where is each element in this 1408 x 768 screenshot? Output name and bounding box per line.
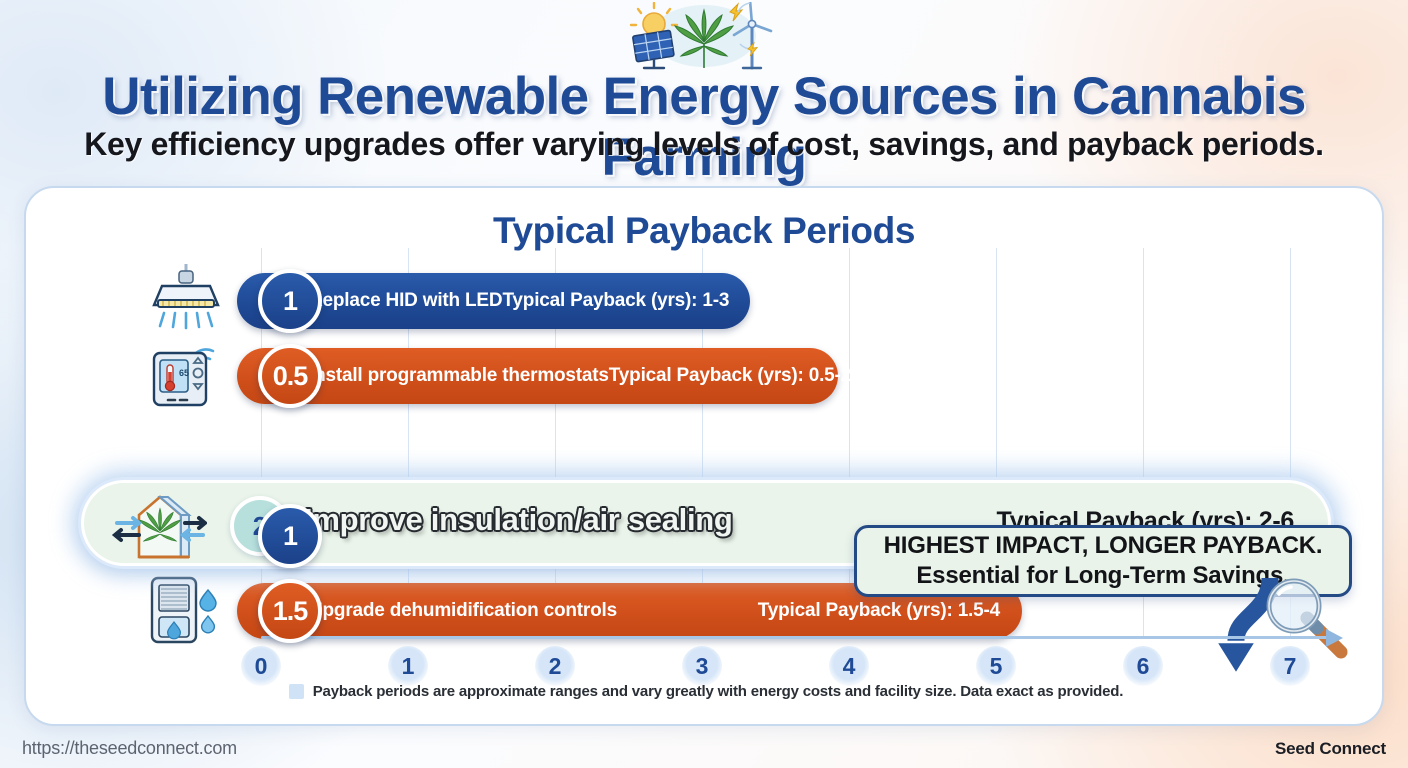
bar-value: Typical Payback (yrs): 1.5-4 [758,600,1000,622]
row-badge: 0.5 [258,344,322,408]
bar-label: Upgrade dehumidification controls [309,600,617,622]
footer-brand: Seed Connect [1275,739,1386,759]
row-badge: 1 [258,504,322,568]
chart-row[interactable]: Replace HID with LED Typical Payback (yr… [26,273,1384,329]
bar-label: Improve insulation/air sealing [304,502,733,538]
chart-row[interactable]: 65 Install programmable thermostats Typi… [26,348,1384,404]
axis-tick-6: 6 [1123,646,1163,686]
callout-line-1: HIGHEST IMPACT, LONGER PAYBACK. [884,531,1323,561]
bar-segment[interactable]: Install programmable thermostats Typical… [237,348,838,404]
axis-tick-7: 7 [1270,646,1310,686]
axis-tick-0: 0 [241,646,281,686]
row-badge: 1 [258,269,322,333]
bar-label: Replace HID with LED [309,290,502,312]
chart-title: Typical Payback Periods [26,210,1382,252]
axis-tick-5: 5 [976,646,1016,686]
footer-url[interactable]: https://theseedconnect.com [22,738,237,759]
footnote-swatch-icon [289,684,304,699]
bar-value: Typical Payback (yrs): 0.5-2 [609,365,851,387]
svg-text:65: 65 [179,368,189,378]
axis-tick-1: 1 [388,646,428,686]
axis-tick-2: 2 [535,646,575,686]
bar-value: Typical Payback (yrs): 1-3 [502,290,729,312]
page-header: Utilizing Renewable Energy Sources in Ca… [0,0,1408,180]
axis-tick-4: 4 [829,646,869,686]
chart-card: Typical Payback Periods [24,186,1384,726]
dehumidifier-icon [138,574,234,648]
x-axis-arrow-icon [1326,629,1343,647]
greenhouse-insulation-icon [109,487,207,565]
magnifying-glass-icon [1259,578,1355,664]
bar-label: Install programmable thermostats [309,365,609,387]
row-badge: 1.5 [258,579,322,643]
smart-thermostat-icon: 65 [138,339,234,413]
hero-icon-cluster [624,2,784,74]
led-grow-light-icon [138,264,234,338]
axis-tick-3: 3 [682,646,722,686]
chart-plot-area: Replace HID with LED Typical Payback (yr… [26,248,1384,668]
page-subtitle: Key efficiency upgrades offer varying le… [0,126,1408,163]
x-axis-line [261,636,1333,639]
chart-footnote: Payback periods are approximate ranges a… [26,683,1384,700]
footnote-text: Payback periods are approximate ranges a… [313,683,1123,700]
